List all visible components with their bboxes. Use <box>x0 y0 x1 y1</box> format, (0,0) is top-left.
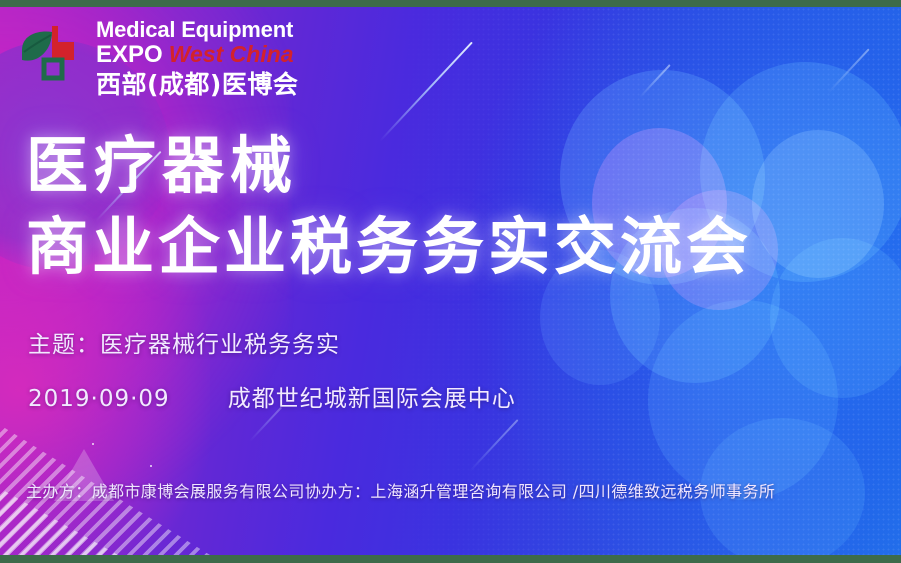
event-venue: 成都世纪城新国际会展中心 <box>228 384 516 414</box>
cohost-label: 协办方： <box>305 482 371 501</box>
date-venue-line: 2019·09·09 成都世纪城新国际会展中心 <box>28 384 516 414</box>
cohost-value: 上海涵升管理咨询有限公司 /四川德维致远税务师事务所 <box>370 482 775 501</box>
page-title: 医疗器械 商业企业税务务实交流会 <box>26 128 752 286</box>
logo-west-china-word: West China <box>169 41 294 67</box>
host-label: 主办方： <box>26 482 92 501</box>
event-poster: Medical Equipment EXPOWest China 西部(成都)医… <box>0 0 901 563</box>
theme-line: 主题：医疗器械行业税务务实 <box>28 330 340 360</box>
logo-line-cn: 西部(成都)医博会 <box>96 71 298 99</box>
logo-line-en-2: EXPOWest China <box>96 41 298 71</box>
medical-cross-leaf-logo-icon <box>18 16 90 88</box>
event-date: 2019·09·09 <box>28 384 170 414</box>
bottom-border-band <box>0 555 901 563</box>
logo-expo-word: EXPO <box>96 41 163 68</box>
theme-value: 医疗器械行业税务务实 <box>100 332 340 358</box>
headline-line-1: 医疗器械 <box>26 128 752 204</box>
sparkle-dot <box>150 465 152 467</box>
theme-label: 主题： <box>28 332 100 358</box>
organizers-line: 主办方：成都市康博会展服务有限公司协办方：上海涵升管理咨询有限公司 /四川德维致… <box>26 481 775 503</box>
logo-line-en-1: Medical Equipment <box>96 18 298 41</box>
host-value: 成都市康博会展服务有限公司 <box>92 482 305 501</box>
top-border-band <box>0 0 901 7</box>
headline-line-2: 商业企业税务务实交流会 <box>26 208 752 286</box>
expo-logo: Medical Equipment EXPOWest China 西部(成都)医… <box>18 16 298 99</box>
expo-logo-text: Medical Equipment EXPOWest China 西部(成都)医… <box>96 16 298 99</box>
sparkle-dot <box>92 443 94 445</box>
